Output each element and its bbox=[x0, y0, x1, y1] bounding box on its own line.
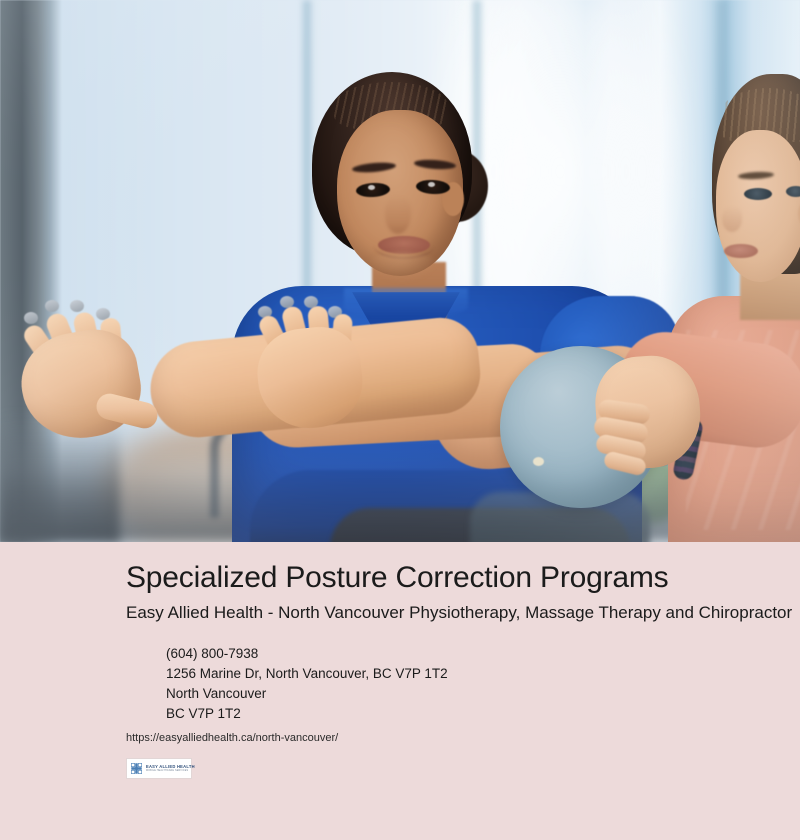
child-lips bbox=[724, 244, 758, 258]
child-figure bbox=[0, 0, 800, 542]
contact-details: (604) 800-7938 1256 Marine Dr, North Van… bbox=[126, 624, 800, 724]
hero-image bbox=[0, 0, 800, 542]
brand-tagline: MOBILE HEALTHCARE SERVICES bbox=[146, 770, 195, 772]
page-root: Specialized Posture Correction Programs … bbox=[0, 0, 800, 840]
easy-allied-health-logo-icon bbox=[131, 763, 142, 774]
info-panel: Specialized Posture Correction Programs … bbox=[0, 542, 800, 840]
info-panel-content: Specialized Posture Correction Programs … bbox=[126, 542, 800, 779]
child-nose bbox=[722, 206, 742, 232]
exercise-ball-valve bbox=[533, 457, 544, 466]
website-url[interactable]: https://easyalliedhealth.ca/north-vancou… bbox=[126, 724, 800, 746]
contact-phone[interactable]: (604) 800-7938 bbox=[166, 644, 800, 664]
contact-region-postal: BC V7P 1T2 bbox=[166, 704, 800, 724]
brand-badge[interactable]: EASY ALLIED HEALTH MOBILE HEALTHCARE SER… bbox=[126, 758, 192, 779]
contact-address: 1256 Marine Dr, North Vancouver, BC V7P … bbox=[166, 664, 800, 684]
contact-city: North Vancouver bbox=[166, 684, 800, 704]
brand-badge-text: EASY ALLIED HEALTH MOBILE HEALTHCARE SER… bbox=[146, 765, 195, 773]
child-eye-near bbox=[744, 188, 772, 200]
child-eye-far bbox=[786, 186, 800, 197]
page-title: Specialized Posture Correction Programs bbox=[126, 542, 800, 596]
brand-name: EASY ALLIED HEALTH bbox=[146, 765, 195, 769]
business-subtitle: Easy Allied Health - North Vancouver Phy… bbox=[126, 596, 800, 624]
